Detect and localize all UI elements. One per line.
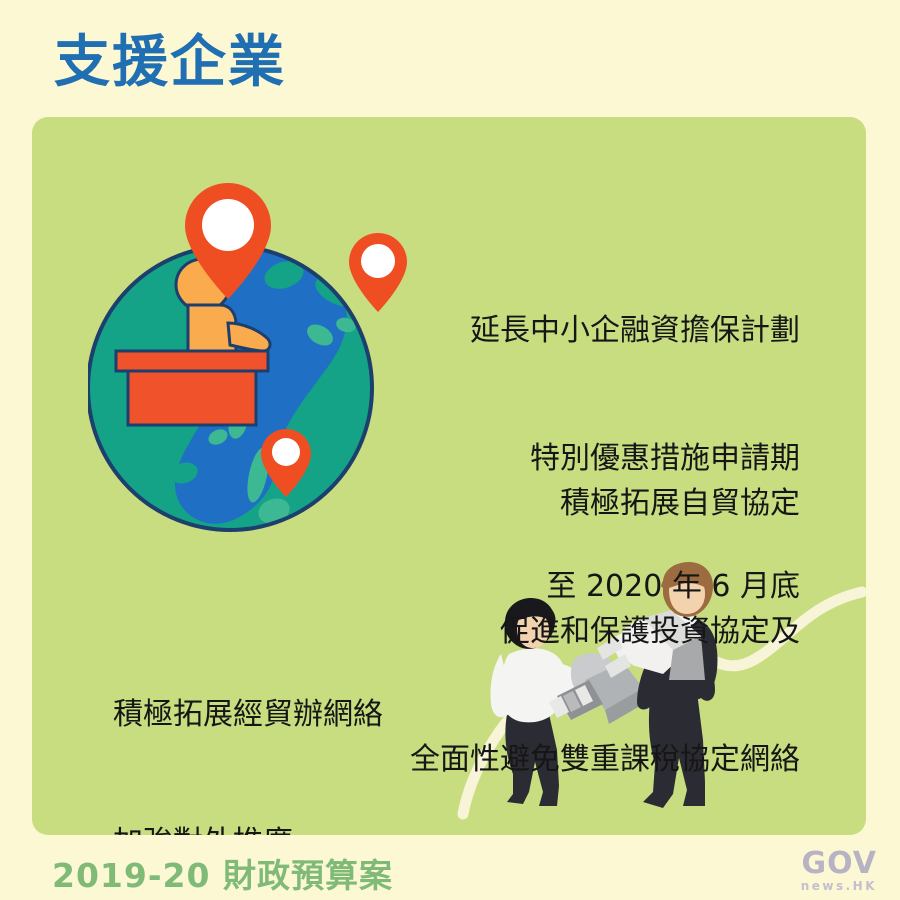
text-line: 積極拓展經貿辦網絡 [113, 694, 383, 737]
footer-caption: 2019-20 財政預算案 [52, 849, 393, 897]
infographic-page: 支援企業 [0, 0, 900, 900]
text-line: 全面性避免雙重課稅協定網絡 [410, 739, 800, 782]
text-block-free-trade: 積極拓展自貿協定 促進和保護投資協定及 全面性避免雙重課稅協定網絡 [410, 398, 800, 835]
logo-gov-text: GOV [767, 849, 877, 879]
text-block-trade-offices: 積極拓展經貿辦網絡 加強對外推廣 為港企開拓商機 [113, 609, 383, 835]
site-logo: GOV news.HK [767, 849, 877, 892]
text-line: 積極拓展自貿協定 [410, 483, 800, 526]
text-line: 延長中小企融資擔保計劃 [470, 310, 800, 353]
logo-news-text: news.HK [767, 880, 877, 892]
content-card: 延長中小企融資擔保計劃 特別優惠措施申請期 至 2020 年 6 月底 積極拓展… [32, 117, 866, 835]
page-title: 支援企業 [54, 32, 286, 94]
text-line: 加強對外推廣 [113, 822, 383, 835]
text-line: 促進和保護投資協定及 [410, 611, 800, 654]
globe-illustration [88, 175, 428, 575]
map-pin-secondary [349, 233, 407, 312]
